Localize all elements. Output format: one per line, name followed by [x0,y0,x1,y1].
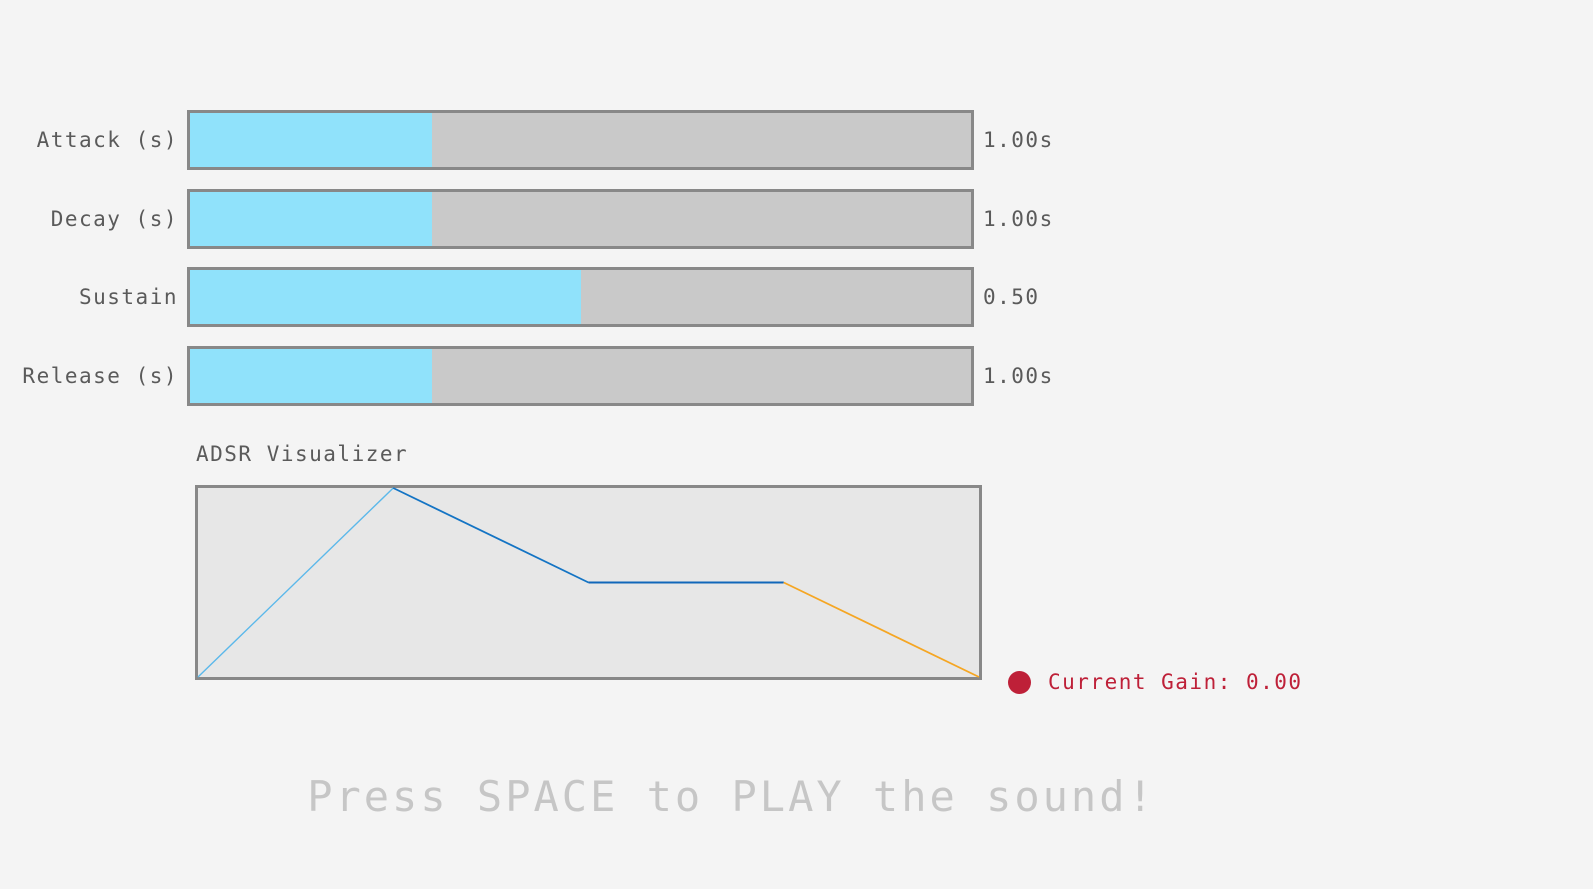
envelope-decay-segment [393,488,588,583]
slider-label-release: Release (s) [0,364,187,388]
slider-label-sustain: Sustain [0,285,187,309]
slider-value-release: 1.00s [974,364,1054,388]
current-gain-readout: Current Gain: 0.00 [1008,668,1303,696]
slider-track-attack[interactable] [187,110,974,170]
gain-indicator-dot [1008,671,1031,694]
slider-value-attack: 1.00s [974,128,1054,152]
slider-track-sustain[interactable] [187,267,974,327]
play-hint-text: Press SPACE to PLAY the sound! [0,772,1463,821]
slider-label-attack: Attack (s) [0,128,187,152]
slider-row-attack: Attack (s) 1.00s [0,109,1100,171]
envelope-release-segment [784,583,979,678]
adsr-envelope-graph [195,485,982,680]
slider-row-sustain: Sustain 0.50 [0,266,1100,328]
adsr-synth-app: Attack (s) 1.00s Decay (s) 1.00s Sustain… [0,0,1593,889]
slider-track-release[interactable] [187,346,974,406]
slider-value-decay: 1.00s [974,207,1054,231]
slider-fill-release[interactable] [190,349,432,403]
slider-track-decay[interactable] [187,189,974,249]
slider-fill-sustain[interactable] [190,270,581,324]
slider-value-sustain: 0.50 [974,285,1040,309]
gain-label: Current Gain: 0.00 [1048,670,1303,694]
envelope-attack-segment [198,488,393,677]
slider-fill-attack[interactable] [190,113,432,167]
visualizer-title: ADSR Visualizer [196,442,408,466]
slider-row-decay: Decay (s) 1.00s [0,188,1100,250]
slider-row-release: Release (s) 1.00s [0,345,1100,407]
slider-fill-decay[interactable] [190,192,432,246]
slider-label-decay: Decay (s) [0,207,187,231]
